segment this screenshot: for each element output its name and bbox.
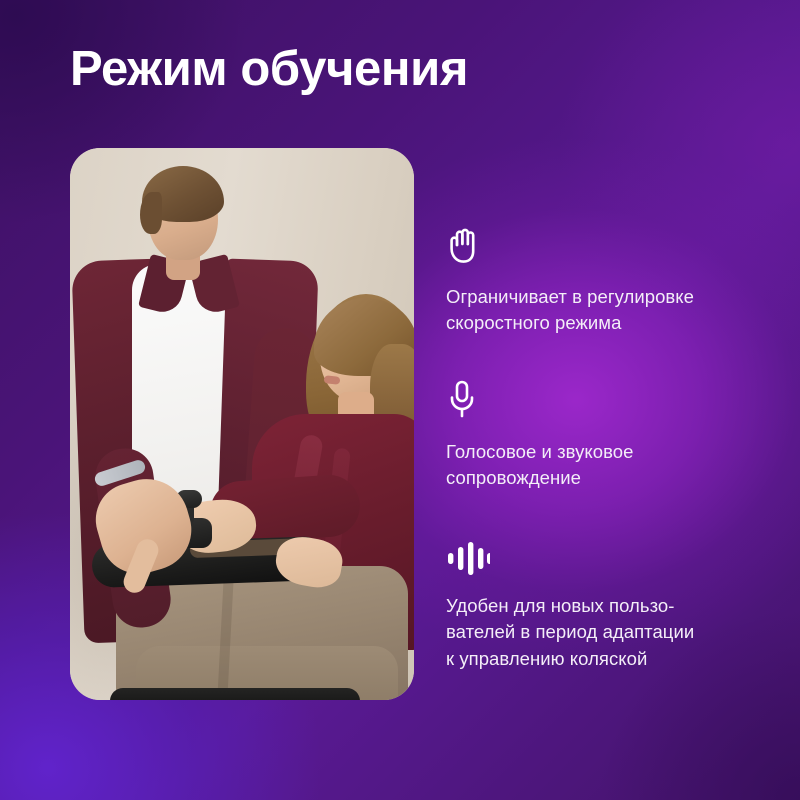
wheelchair-seat-edge [110,688,360,700]
feature-list: Ограничивает в регулировке скоростного р… [446,222,746,672]
photo-illustration [70,148,414,700]
feature-text: Ограничивает в регулировке скоростного р… [446,284,746,337]
feature-text: Голосовое и звуковое сопровождение [446,439,746,492]
feature-item-speed-limit: Ограничивает в регулировке скоростного р… [446,222,746,337]
feature-item-adaptation: Удобен для новых пользо- вателей в перио… [446,531,746,672]
page-title: Режим обучения [70,44,468,96]
photo-card [70,148,414,700]
woman-lips [324,375,341,385]
hand-palm-icon [446,222,746,266]
sound-wave-icon [446,531,746,575]
promo-slide: Режим обучения [0,0,800,800]
man-hair-side [140,192,162,234]
feature-text: Удобен для новых пользо- вателей в перио… [446,593,746,672]
microphone-icon [446,377,746,421]
feature-item-voice-guidance: Голосовое и звуковое сопровождение [446,377,746,492]
